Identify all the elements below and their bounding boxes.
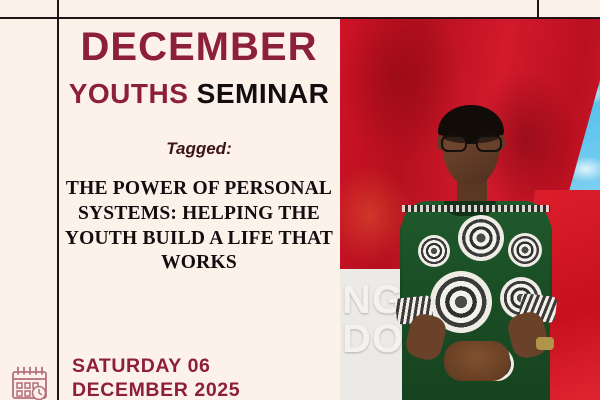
right-vertical-rule xyxy=(537,0,539,19)
event-subtitle-dark: SEMINAR xyxy=(188,78,329,109)
fabric-medallion xyxy=(458,215,504,261)
tagged-label: Tagged: xyxy=(58,108,340,159)
photo-person xyxy=(340,19,600,400)
seminar-theme: THE POWER OF PERSONAL SYSTEMS: HELPING T… xyxy=(58,159,340,276)
date-block: SATURDAY 06 DECEMBER 2025 xyxy=(72,355,322,400)
person-shoulder-trim xyxy=(402,205,550,212)
person-glasses xyxy=(438,135,506,152)
event-subtitle: YOUTHS SEMINAR xyxy=(58,67,340,108)
speaker-photo: NG L DO xyxy=(340,19,600,400)
event-subtitle-accent: YOUTHS xyxy=(69,78,189,109)
month-title: DECEMBER xyxy=(58,19,340,67)
text-column: DECEMBER YOUTHS SEMINAR Tagged: THE POWE… xyxy=(58,19,340,276)
poster-canvas: NG L DO xyxy=(0,0,600,400)
fabric-medallion xyxy=(418,235,450,267)
person-clasped-hands xyxy=(444,341,510,381)
date-line-1: SATURDAY 06 xyxy=(72,355,322,379)
person-wristwatch xyxy=(536,337,554,350)
date-line-2: DECEMBER 2025 xyxy=(72,379,322,400)
fabric-medallion xyxy=(508,233,542,267)
calendar-icon xyxy=(10,366,50,400)
left-vertical-rule xyxy=(57,0,59,400)
